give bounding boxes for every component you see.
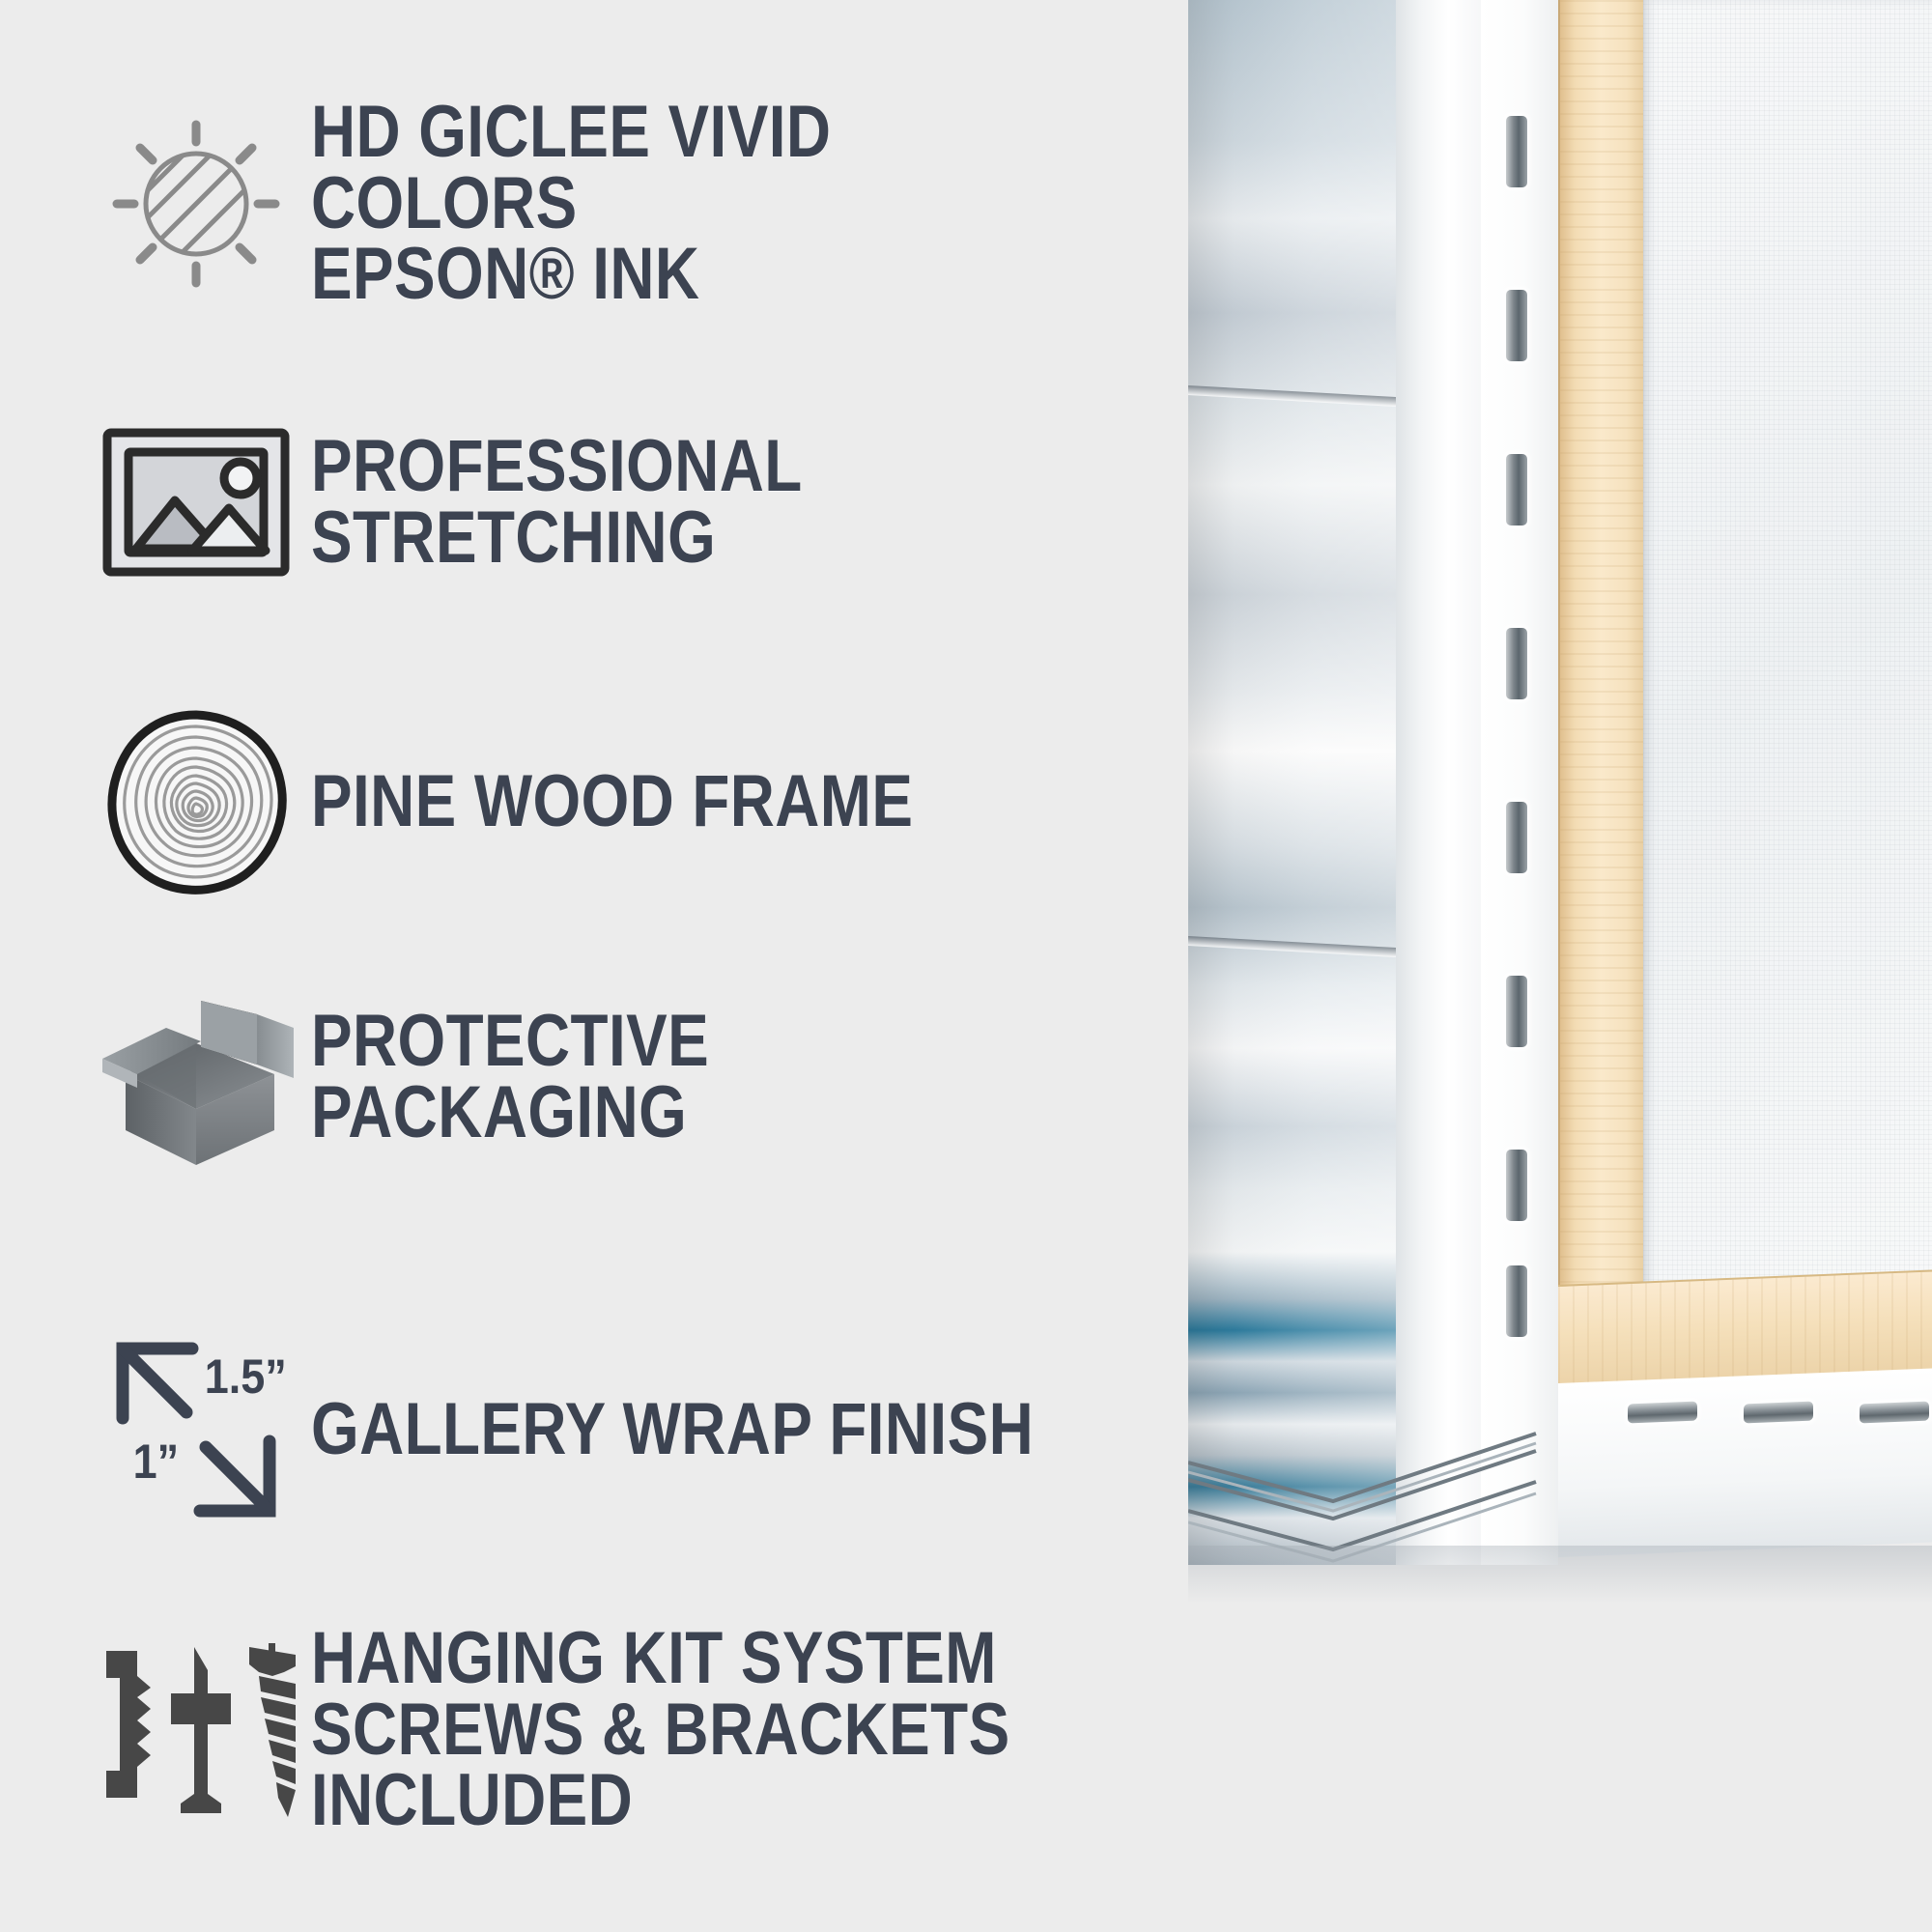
feature-row-hanging-kit: HANGING KIT SYSTEM SCREWS & BRACKETS INC… xyxy=(92,1623,1198,1836)
feature-label-gallery-wrap-finish: GALLERY WRAP FINISH xyxy=(311,1394,1034,1465)
staple xyxy=(1860,1402,1929,1424)
feature-row-gallery-wrap-finish: 1.5” 1” GALLERY WRAP FINISH xyxy=(92,1333,1172,1526)
staple xyxy=(1506,1150,1527,1221)
feature-label-pine-wood-frame: PINE WOOD FRAME xyxy=(311,766,913,838)
hanging-hardware-icon xyxy=(92,1634,299,1827)
picture-frame-icon xyxy=(92,425,299,580)
canvas-fold xyxy=(1396,0,1481,1565)
staple xyxy=(1506,116,1527,187)
canvas-back-corner-photo xyxy=(1188,0,1932,1932)
printed-wrap-edge xyxy=(1188,0,1396,1565)
feature-row-pine-wood-frame: PINE WOOD FRAME xyxy=(92,705,1028,898)
staple xyxy=(1744,1402,1813,1424)
staple xyxy=(1628,1402,1697,1424)
staple xyxy=(1506,454,1527,526)
feature-row-professional-stretching: PROFESSIONAL STRETCHING xyxy=(92,425,1198,580)
staple xyxy=(1506,290,1527,361)
feature-label-hanging-kit: HANGING KIT SYSTEM SCREWS & BRACKETS INC… xyxy=(311,1623,1056,1836)
feature-list: HD GICLEE VIVID COLORS EPSON® INK PROFES… xyxy=(0,0,1198,1932)
feature-row-hd-giclee: HD GICLEE VIVID COLORS EPSON® INK xyxy=(92,97,1198,310)
printed-corner-chevrons xyxy=(1188,1430,1729,1565)
canvas-backing xyxy=(1643,0,1932,1343)
infographic-canvas: HD GICLEE VIVID COLORS EPSON® INK PROFES… xyxy=(0,0,1932,1932)
depth-dimension-label: 1.5” xyxy=(204,1349,286,1405)
sun-print-icon xyxy=(92,107,299,300)
feature-label-protective-packaging: PROTECTIVE PACKAGING xyxy=(311,1006,1056,1148)
staple xyxy=(1506,976,1527,1047)
drop-shadow xyxy=(1188,1546,1932,1604)
width-dimension-label: 1” xyxy=(132,1434,179,1490)
staple-strip xyxy=(1481,0,1558,1565)
open-box-icon xyxy=(92,985,299,1169)
wood-ring-icon xyxy=(92,705,299,898)
feature-label-professional-stretching: PROFESSIONAL STRETCHING xyxy=(311,431,1056,573)
pine-stretcher-bar xyxy=(1558,0,1645,1420)
staple xyxy=(1506,802,1527,873)
feature-row-protective-packaging: PROTECTIVE PACKAGING xyxy=(92,985,1198,1169)
staple xyxy=(1506,1265,1527,1337)
dimension-arrows-icon: 1.5” 1” xyxy=(92,1333,299,1526)
staple xyxy=(1506,628,1527,699)
feature-label-hd-giclee: HD GICLEE VIVID COLORS EPSON® INK xyxy=(311,97,1056,310)
